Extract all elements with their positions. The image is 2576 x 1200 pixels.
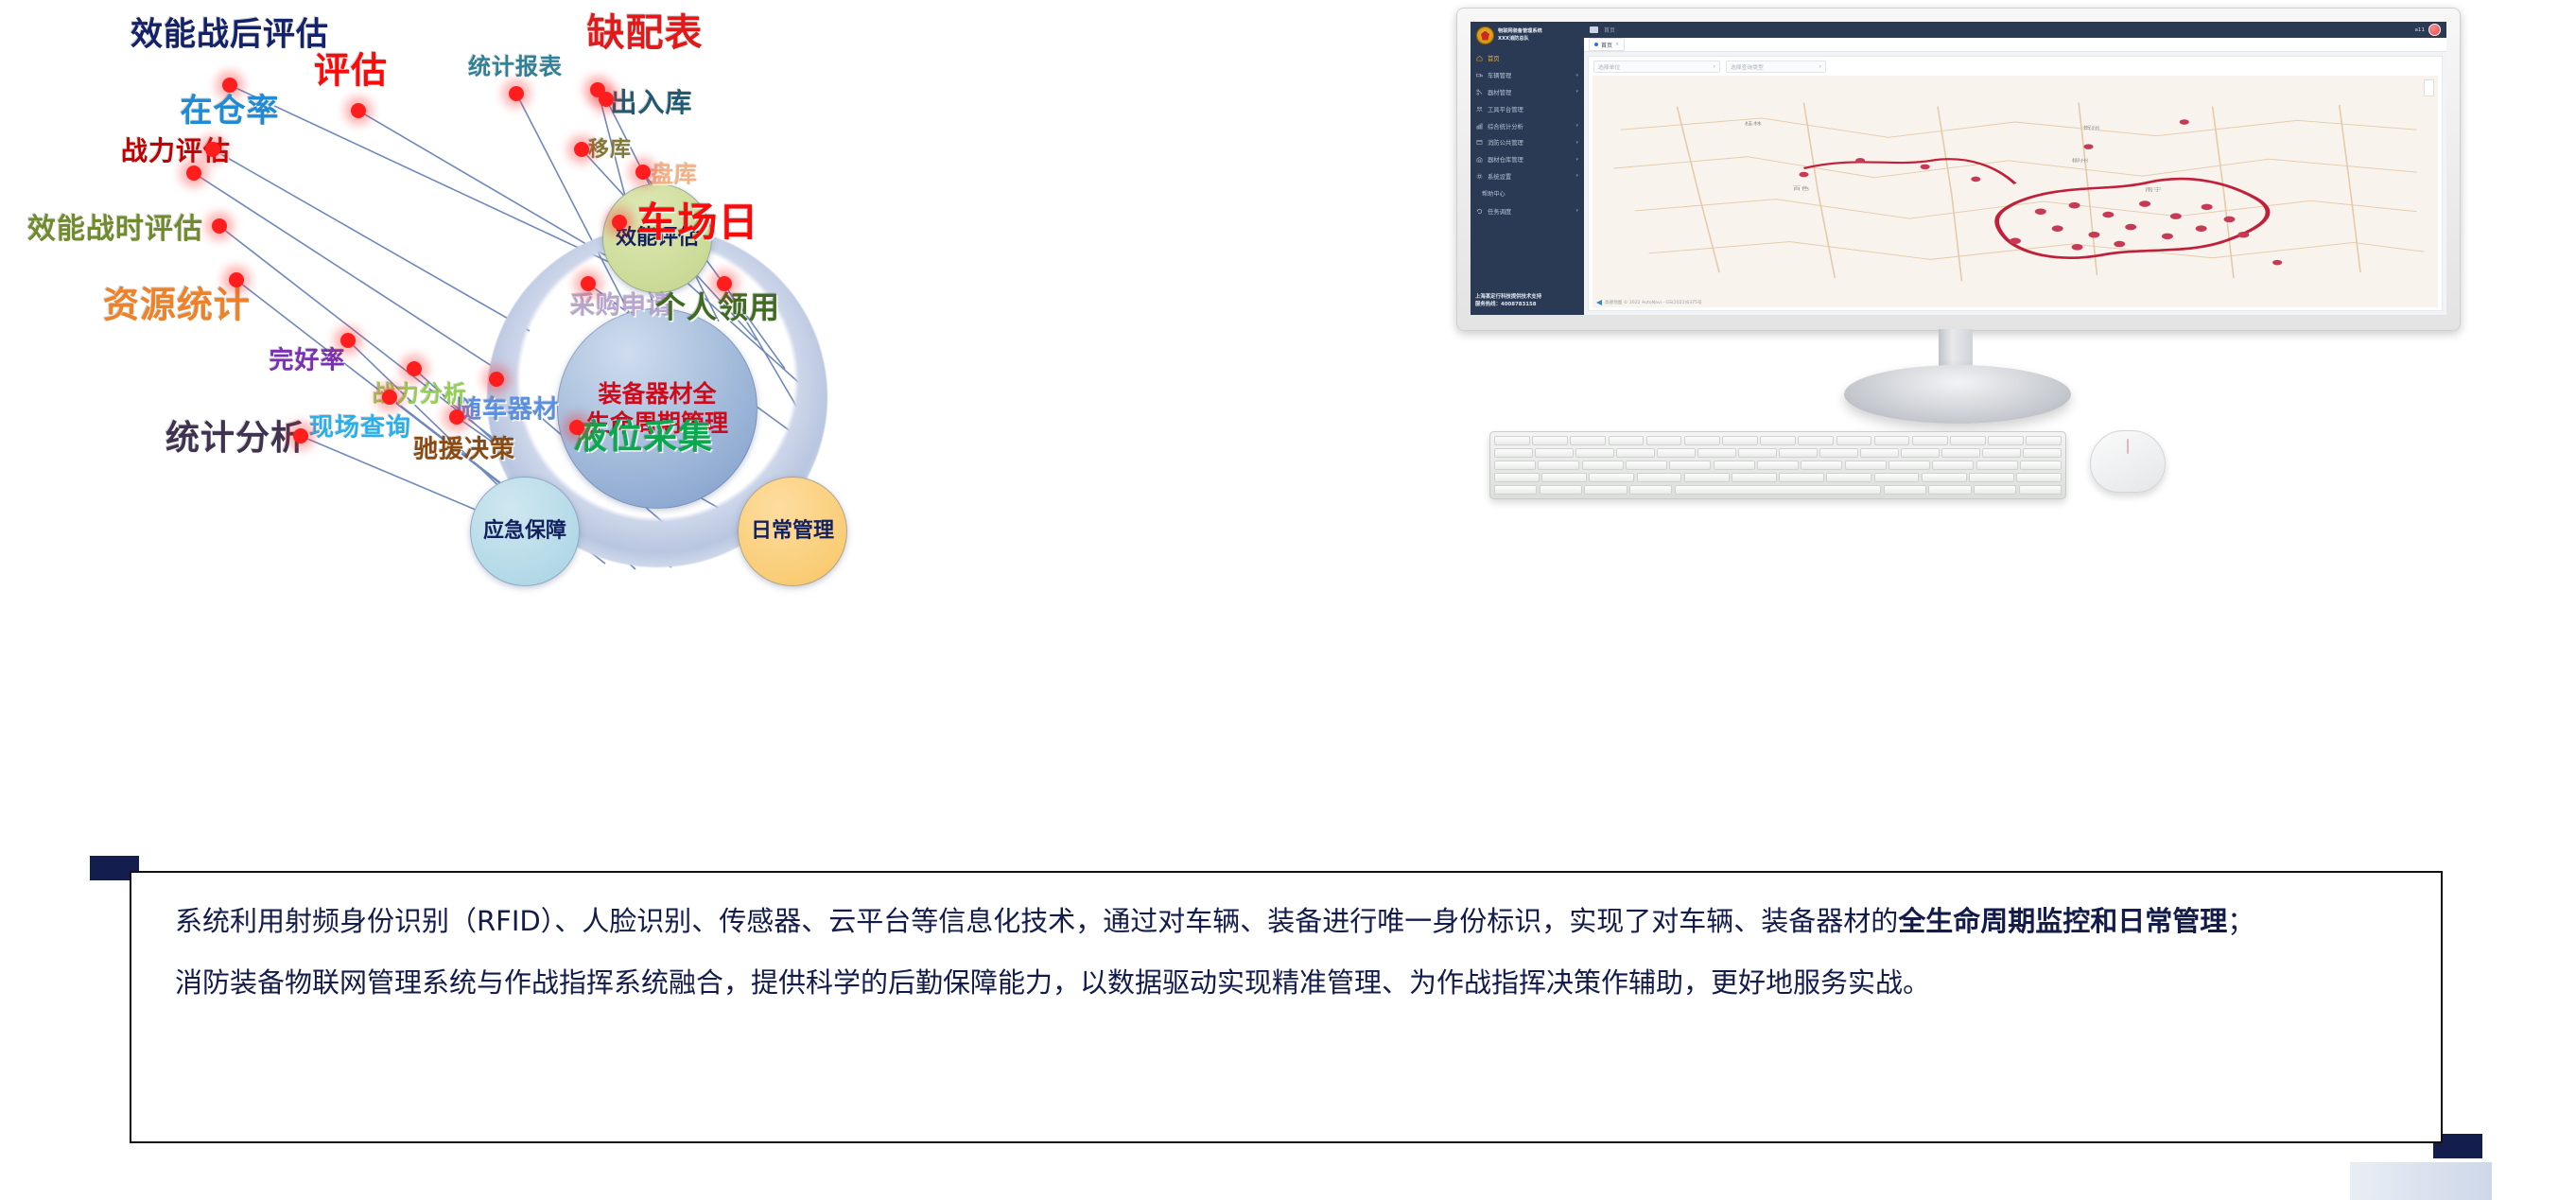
map-canvas[interactable]: 桂林贺州 柳州百色 南宁 高德地图 © 2022 AutoNavi - GS(2… — [1593, 76, 2438, 307]
chevron-down-icon: ▾ — [1811, 64, 1821, 70]
keyboard-key — [1901, 448, 1940, 458]
keyboard-key — [1684, 436, 1720, 445]
keyboard-key — [1582, 461, 1624, 470]
keyboard-key — [1928, 485, 1971, 495]
keyboard-key — [1884, 485, 1926, 495]
diagram-node-dot — [340, 333, 356, 348]
keyboard-key — [1819, 448, 1858, 458]
caption-paragraph-1: 系统利用射频身份识别（RFID）、人脸识别、传感器、云平台等信息化技术，通过对车… — [175, 897, 2397, 946]
filter-row: 选择单位 ▾ 选择查询类型 ▾ — [1589, 57, 2442, 76]
diagram-node-dot — [407, 361, 422, 376]
diagram-node-dot — [574, 142, 589, 157]
warehouse-icon — [1476, 156, 1483, 163]
user-box[interactable]: a11 — [2414, 24, 2441, 36]
keyboard-key — [1874, 473, 1920, 482]
keyboard-row — [1494, 485, 2062, 495]
keyboard-key — [1626, 461, 1667, 470]
diagram-node-dot — [205, 142, 220, 157]
bubble-emergency-support[interactable]: 应急保障 — [470, 477, 580, 586]
sidebar-nav: 首页车辆管理▾器材管理▾工具平台管理综合统计分析▾消防公共管理▾器材仓库管理▾系… — [1471, 50, 1584, 184]
diagram-node-dot — [293, 428, 308, 443]
tab-dot-icon — [1594, 43, 1598, 46]
keyboard-key — [1845, 461, 1887, 470]
keyboard-key — [1538, 461, 1579, 470]
truck-icon — [1476, 72, 1483, 78]
core-line1: 装备器材全 — [598, 380, 716, 408]
diagram-label[interactable]: 出入库 — [610, 82, 692, 120]
diagram-node-dot — [186, 165, 201, 181]
svg-text:百色: 百色 — [1793, 185, 1810, 191]
sidebar-item-8[interactable]: 系统设置▾ — [1471, 167, 1584, 184]
sidebar-item-label: 工具平台管理 — [1488, 105, 1523, 113]
tab-label: 首页 — [1601, 41, 1612, 49]
keyboard-key — [1732, 473, 1777, 482]
chevron-down-icon: ▾ — [1575, 73, 1578, 78]
breadcrumb: 首页 — [1604, 26, 1615, 34]
diagram-node-dot — [569, 420, 584, 435]
keyboard-key — [1738, 448, 1777, 458]
keyboard — [1489, 431, 2066, 499]
keyboard-key — [1669, 461, 1711, 470]
brand-line1: 物联网装备管理系统 — [1498, 28, 1542, 36]
map-graphic: 桂林贺州 柳州百色 南宁 — [1593, 76, 2438, 307]
app-sidebar: 物联网装备管理系统 XXX消防总队 首页车辆管理▾器材管理▾工具平台管理综合统计… — [1471, 22, 1584, 315]
keyboard-key — [1836, 436, 1872, 445]
diagram-label[interactable]: 移库 — [588, 132, 632, 163]
keyboard-key — [1609, 436, 1645, 445]
keyboard-key — [1798, 436, 1834, 445]
sidebar-item-2[interactable]: 车辆管理▾ — [1471, 67, 1584, 84]
diagram-label[interactable]: 评估 — [314, 42, 388, 94]
chevron-down-icon: ▾ — [1575, 89, 1578, 95]
footer-line1: 上海某定行科技提供技术支持 — [1475, 293, 1580, 302]
keyboard-row — [1494, 461, 2062, 470]
chevron-down-icon: ▾ — [1575, 208, 1578, 214]
keyboard-key — [1570, 436, 1606, 445]
map-attribution: 高德地图 © 2022 AutoNavi - GS(2021)6375号 — [1596, 300, 1702, 305]
diagram-label[interactable]: 效能战时评估 — [27, 205, 203, 247]
desktop-computer-illustration: 物联网装备管理系统 XXX消防总队 首页车辆管理▾器材管理▾工具平台管理综合统计… — [1437, 0, 2553, 851]
sidebar-item-6[interactable]: 消防公共管理▾ — [1471, 134, 1584, 151]
sidebar-item-label: 器材仓库管理 — [1488, 155, 1523, 164]
diagram-node-dot — [449, 409, 464, 425]
keyboard-key — [1684, 473, 1730, 482]
sidebar-footer: 上海某定行科技提供技术支持 服务热线：4008783158 — [1471, 288, 1584, 315]
keyboard-key — [1541, 473, 1587, 482]
home-icon — [1476, 55, 1483, 61]
sidebar-item-label: 综合统计分析 — [1488, 122, 1523, 130]
diagram-node-dot — [382, 390, 397, 405]
diagram-label[interactable]: 驰援决策 — [413, 430, 515, 465]
svg-text:柳州: 柳州 — [2072, 158, 2089, 164]
core-bubble: 装备器材全 生命周期管理 — [557, 308, 757, 509]
bubble-label: 日常管理 — [751, 518, 834, 545]
keyboard-key — [1982, 448, 2021, 458]
keyboard-key — [1912, 436, 1948, 445]
chevron-down-icon: ▾ — [1575, 173, 1578, 179]
keyboard-key — [1589, 473, 1634, 482]
keyboard-key — [2020, 461, 2062, 470]
bubble-daily-management[interactable]: 日常管理 — [738, 477, 847, 586]
chevron-down-icon: ▾ — [1575, 140, 1578, 146]
diagram-node-dot — [351, 103, 366, 118]
keyboard-key — [1714, 461, 1755, 470]
keyboard-key — [2023, 448, 2062, 458]
monitor-base — [1844, 365, 2071, 424]
sidebar-item-1[interactable]: 首页 — [1471, 50, 1584, 67]
diagram-label[interactable]: 液位采集 — [573, 409, 713, 459]
gear-icon — [1476, 173, 1483, 180]
diagram-node-dot — [581, 276, 596, 291]
keyboard-key — [1584, 485, 1627, 495]
keyboard-key — [1922, 473, 1967, 482]
user-name: a11 — [2414, 27, 2425, 33]
query-type-select[interactable]: 选择查询类型 ▾ — [1726, 61, 1826, 73]
keyboard-key — [1932, 461, 1974, 470]
avatar[interactable] — [2428, 24, 2441, 36]
keyboard-key — [1874, 436, 1910, 445]
keyboard-key — [1860, 448, 1899, 458]
keyboard-key — [1976, 461, 2018, 470]
sidebar-item-7[interactable]: 器材仓库管理▾ — [1471, 151, 1584, 168]
tools-icon — [1476, 89, 1483, 96]
caption-paragraph-2: 消防装备物联网管理系统与作战指挥系统融合，提供科学的后勤保障能力，以数据驱动实现… — [175, 959, 2397, 1007]
svg-text:南宁: 南宁 — [2145, 187, 2162, 193]
sidebar-item-task-schedule[interactable]: 任务调度 ▾ — [1471, 202, 1584, 219]
keyboard-key — [2026, 436, 2062, 445]
unit-select[interactable]: 选择单位 ▾ — [1593, 61, 1720, 73]
keyboard-key — [1826, 473, 1871, 482]
keyboard-key — [1494, 461, 1536, 470]
sidebar-item-3[interactable]: 器材管理▾ — [1471, 84, 1584, 101]
map-zoom-control[interactable] — [2424, 79, 2434, 96]
diagram-node-dot — [489, 372, 504, 387]
diagram-node-dot — [599, 92, 614, 107]
query-type-select-value: 选择查询类型 — [1731, 62, 1764, 71]
diagram-label[interactable]: 资源统计 — [103, 276, 251, 328]
keyboard-key — [1801, 461, 1842, 470]
diagram-node-dot — [717, 276, 732, 291]
monitor-bezel: 物联网装备管理系统 XXX消防总队 首页车辆管理▾器材管理▾工具平台管理综合统计… — [1456, 8, 2461, 331]
brand-text: 物联网装备管理系统 XXX消防总队 — [1498, 28, 1542, 43]
book-icon — [1476, 139, 1483, 146]
keyboard-key — [1888, 461, 1930, 470]
caption-p1-a: 系统利用射频身份识别（RFID）、人脸识别、传感器、云平台等信息化技术，通过对车… — [175, 905, 1898, 937]
keyboard-key — [1779, 448, 1818, 458]
keyboard-key — [1974, 485, 2016, 495]
keyboard-key — [1988, 436, 2024, 445]
keyboard-key — [1532, 436, 1568, 445]
diagram-node-dot — [229, 272, 244, 287]
diagram-label[interactable]: 随车器材 — [457, 391, 559, 426]
amap-logo-icon — [1596, 300, 1602, 305]
sidebar-item-5[interactable]: 综合统计分析▾ — [1471, 117, 1584, 134]
keyboard-key — [1779, 473, 1824, 482]
caption-p1-c: ； — [2227, 905, 2254, 937]
diagram-label[interactable]: 在仓率 — [181, 85, 280, 131]
keyboard-key — [1657, 448, 1696, 458]
brand-line2: XXX消防总队 — [1498, 36, 1542, 43]
keyboard-key — [1629, 485, 1672, 495]
keyboard-key — [1575, 448, 1614, 458]
sidebar-item-label: 消防公共管理 — [1488, 138, 1523, 147]
diagram-label[interactable]: 个人领用 — [655, 284, 780, 327]
fire-emblem-icon — [1476, 26, 1494, 44]
keyboard-key — [1969, 473, 2014, 482]
diagram-node-dot — [212, 218, 227, 234]
capability-diagram: 装备器材全 生命周期管理 效能评估 应急保障 日常管理 效能战后评估评估统计报表… — [0, 0, 1400, 832]
keyboard-key — [1675, 485, 1881, 495]
app-window: 物联网装备管理系统 XXX消防总队 首页车辆管理▾器材管理▾工具平台管理综合统计… — [1471, 22, 2446, 315]
chevron-down-icon: ▾ — [1575, 157, 1578, 163]
svg-text:贺州: 贺州 — [2083, 125, 2100, 130]
mouse — [2090, 430, 2166, 493]
keyboard-key — [1540, 485, 1582, 495]
keyboard-key — [2019, 485, 2062, 495]
keyboard-key — [1941, 448, 1980, 458]
svg-text:桂林: 桂林 — [1745, 121, 1762, 127]
keyboard-key — [1616, 448, 1655, 458]
keyboard-key — [1757, 461, 1799, 470]
keyboard-key — [1760, 436, 1796, 445]
platform-icon — [1476, 106, 1483, 113]
caption-block: 系统利用射频身份识别（RFID）、人脸识别、传感器、云平台等信息化技术，通过对车… — [90, 856, 2482, 1158]
menu-toggle-icon[interactable] — [1590, 26, 1598, 33]
diagram-label[interactable]: 完好率 — [269, 341, 345, 376]
keyboard-key — [1494, 473, 1540, 482]
diagram-node-dot — [635, 165, 651, 180]
sidebar-item-label: 器材管理 — [1488, 88, 1511, 96]
chevron-down-icon: ▾ — [1705, 64, 1715, 70]
diagram-label[interactable]: 缺配表 — [587, 2, 704, 57]
footer-line2: 服务热线：4008783158 — [1475, 301, 1580, 309]
diagram-label[interactable]: 效能战后评估 — [131, 9, 329, 55]
caption-p1-bold: 全生命周期监控和日常管理 — [1898, 905, 2227, 937]
sidebar-item-label: 车辆管理 — [1488, 71, 1511, 79]
sidebar-item-label: 任务调度 — [1488, 207, 1511, 216]
corner-decoration — [2350, 1162, 2492, 1200]
diagram-node-dot — [612, 215, 627, 230]
keyboard-key — [1494, 436, 1530, 445]
diagram-label[interactable]: 车场日 — [636, 191, 758, 249]
unit-select-value: 选择单位 — [1598, 62, 1620, 71]
diagram-label[interactable]: 盘库 — [651, 156, 698, 189]
diagram-node-dot — [509, 86, 524, 101]
diagram-label[interactable]: 统计报表 — [468, 48, 563, 81]
keyboard-row — [1494, 436, 2062, 445]
keyboard-row — [1494, 448, 2062, 458]
close-icon[interactable]: × — [1615, 42, 1619, 47]
keyboard-key — [1494, 485, 1537, 495]
app-main: 首页 a11 首页 × 选择单位 — [1584, 22, 2446, 315]
sidebar-section-help[interactable]: 帮助中心 — [1471, 184, 1584, 202]
sidebar-item-label: 系统设置 — [1488, 172, 1511, 181]
chart-icon — [1476, 123, 1483, 130]
keyboard-key — [1637, 473, 1682, 482]
brand-row: 物联网装备管理系统 XXX消防总队 — [1471, 22, 1584, 50]
sidebar-item-label: 首页 — [1488, 54, 1500, 62]
sidebar-item-4[interactable]: 工具平台管理 — [1471, 100, 1584, 117]
diagram-label[interactable]: 现场查询 — [309, 409, 411, 443]
bubble-label: 应急保障 — [483, 518, 566, 545]
content-panel: 选择单位 ▾ 选择查询类型 ▾ — [1588, 56, 2443, 311]
diagram-label[interactable]: 统计分析 — [165, 410, 305, 460]
tab-home[interactable]: 首页 × — [1589, 38, 1625, 51]
keyboard-key — [1722, 436, 1758, 445]
keyboard-row — [1494, 473, 2062, 482]
keyboard-key — [1950, 436, 1986, 445]
keyboard-key — [2016, 473, 2062, 482]
caption-box: 系统利用射频身份识别（RFID）、人脸识别、传感器、云平台等信息化技术，通过对车… — [130, 871, 2443, 1143]
chevron-down-icon: ▾ — [1575, 123, 1578, 129]
map-attribution-text: 高德地图 © 2022 AutoNavi - GS(2021)6375号 — [1605, 300, 1702, 305]
keyboard-key — [1697, 448, 1736, 458]
refresh-icon — [1476, 208, 1483, 215]
tab-bar: 首页 × — [1584, 38, 2446, 52]
keyboard-key — [1494, 448, 1533, 458]
keyboard-key — [1646, 436, 1682, 445]
app-topbar: 首页 a11 — [1584, 22, 2446, 38]
keyboard-key — [1535, 448, 1574, 458]
